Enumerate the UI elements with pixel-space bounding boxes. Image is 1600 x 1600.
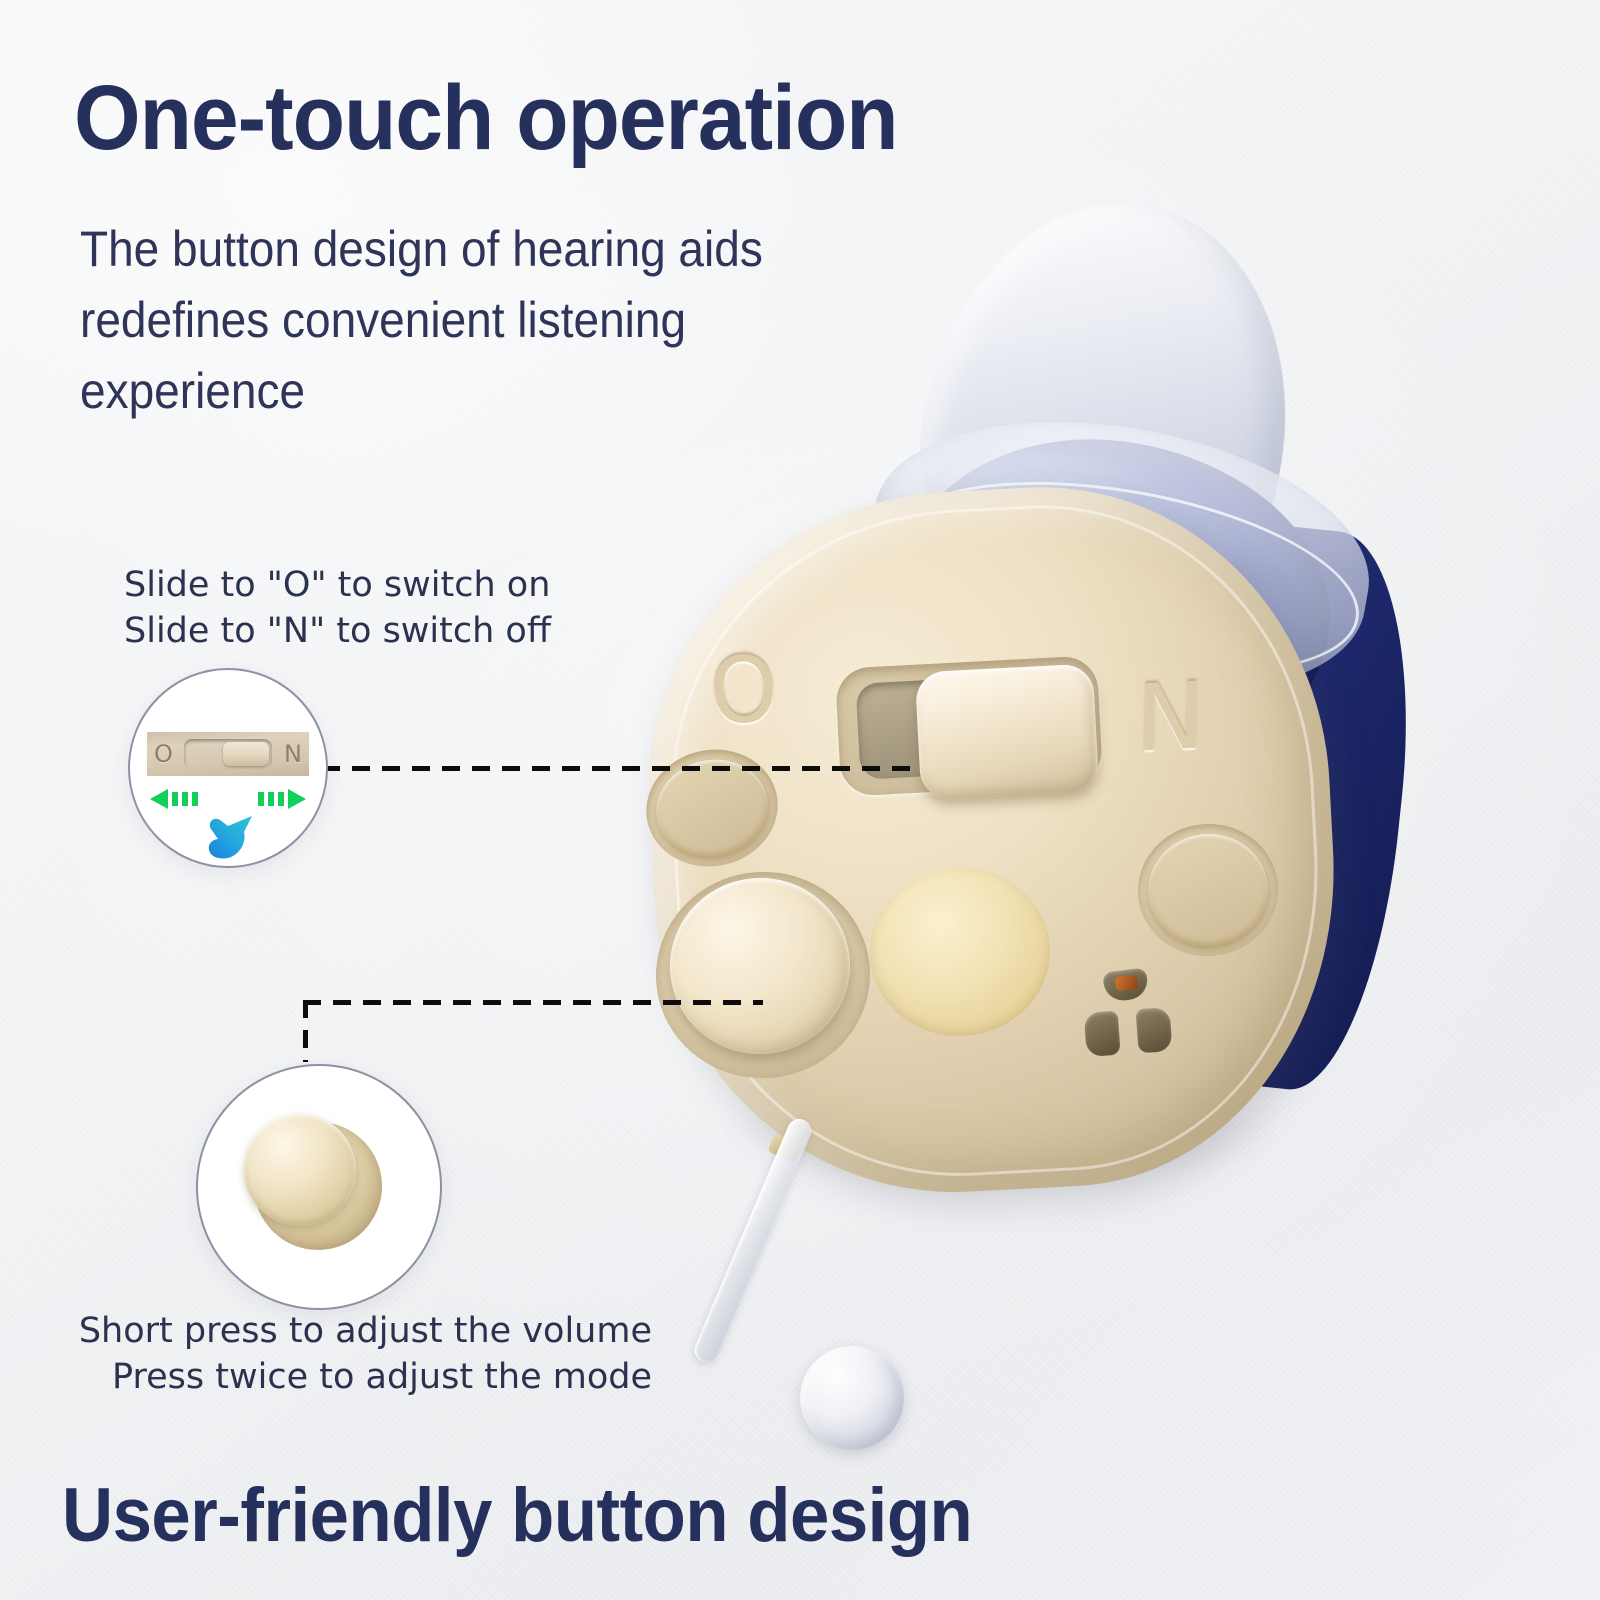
switch-inset-photo: O N bbox=[147, 732, 309, 776]
page-title: One-touch operation bbox=[74, 72, 898, 164]
switch-callout-text: Slide to "O" to switch on Slide to "N" t… bbox=[124, 562, 551, 654]
vent-petal-right bbox=[1136, 1007, 1173, 1053]
arrow-left-icon bbox=[150, 787, 212, 811]
button-callout-text: Short press to adjust the volume Press t… bbox=[40, 1308, 652, 1400]
product-infographic: One-touch operation The button design of… bbox=[0, 0, 1600, 1600]
inset-label-o: O bbox=[154, 742, 173, 766]
embossed-label-o: O bbox=[708, 644, 780, 739]
removal-handle-ball bbox=[800, 1346, 904, 1450]
inset-switch-knob bbox=[223, 742, 269, 766]
inset-label-n: N bbox=[284, 742, 302, 766]
switch-leader-line bbox=[322, 766, 922, 771]
button-leader-line bbox=[303, 1000, 763, 1005]
vent-inner-wire bbox=[1115, 975, 1138, 991]
vent-port-icon bbox=[1079, 967, 1177, 1065]
button-inset-circle bbox=[196, 1064, 442, 1310]
switch-inset-circle: O N bbox=[128, 668, 328, 868]
vent-petal-left bbox=[1084, 1011, 1121, 1057]
page-subtitle: The button design of hearing aids redefi… bbox=[80, 214, 908, 427]
inset-push-button bbox=[244, 1114, 356, 1226]
slide-direction-arrows bbox=[150, 786, 306, 812]
inset-switch-track bbox=[184, 739, 272, 769]
button-leader-line-vertical bbox=[303, 1000, 308, 1062]
footer-headline: User-friendly button design bbox=[62, 1478, 972, 1554]
arrow-right-icon bbox=[244, 787, 306, 811]
hand-pointer-icon bbox=[202, 810, 256, 860]
slider-switch-knob[interactable] bbox=[915, 663, 1099, 800]
embossed-label-n: N bbox=[1135, 670, 1205, 766]
